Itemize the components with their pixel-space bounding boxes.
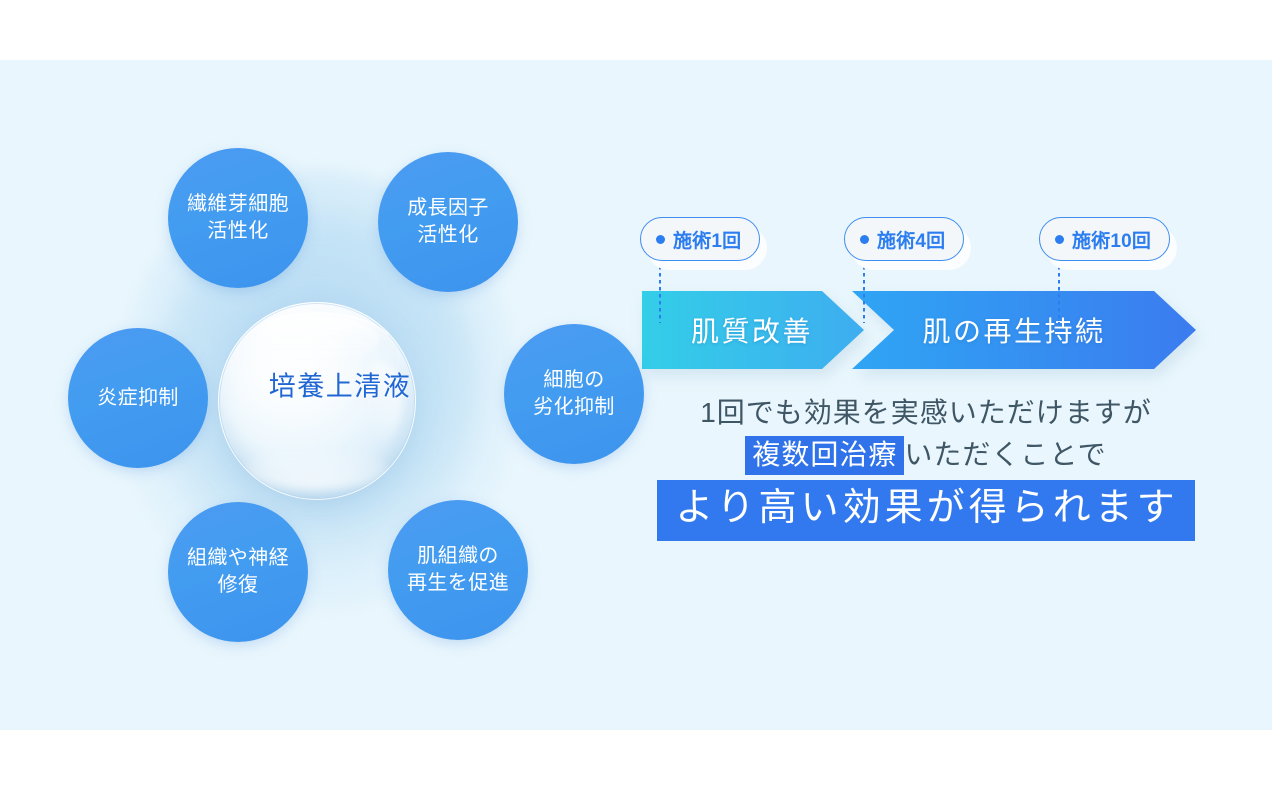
progress-arrow-band: 肌質改善 肌の再生持続 [642,291,1198,369]
message-line-3-emphasis: より高い効果が得られます [657,480,1194,541]
node-label-line1: 組織や神経 [181,545,295,572]
node-label-line2: 活性化 [401,222,495,249]
badge-treatment-1: 施術1回 [640,217,760,261]
badge-label: 施術10回 [1072,226,1151,253]
bullet-dot-icon [656,235,665,244]
bullet-dot-icon [1055,235,1064,244]
badge-label: 施術1回 [673,226,741,253]
node-inflammation-suppression: 炎症抑制 [68,328,208,468]
message-line-2-tail: いただくことで [904,439,1106,470]
node-label-line2: 再生を促進 [401,570,515,597]
node-label-line1: 成長因子 [401,195,495,222]
timeline-and-message: 施術1回 施術4回 施術10回 [636,205,1216,605]
node-fibroblast-activation: 繊維芽細胞 活性化 [168,148,308,288]
node-label-line2: 活性化 [181,218,295,245]
badge-treatment-10: 施術10回 [1039,217,1170,261]
node-label-line2: 劣化抑制 [527,394,621,421]
arrow-segment-regeneration [852,291,1196,369]
node-growth-factor-activation: 成長因子 活性化 [378,152,518,292]
message-line-2: 複数回治療いただくことで [636,437,1216,472]
bullet-dot-icon [860,235,869,244]
node-label-line1: 肌組織の [401,543,515,570]
node-label-line2: 修復 [181,572,295,599]
arrow-segment-skin-quality [642,291,864,369]
node-label-line1: 細胞の [527,367,621,394]
infographic-stage: 培養上清液 繊維芽細胞 活性化 成長因子 活性化 細胞の 劣化抑制 肌組織の 再… [0,0,1272,795]
node-cell-degradation-suppression: 細胞の 劣化抑制 [504,324,644,464]
node-tissue-nerve-repair: 組織や神経 修復 [168,502,308,642]
message-line-1: 1回でも効果を実感いただけますが [636,395,1216,430]
message-block: 1回でも効果を実感いただけますが 複数回治療いただくことで より高い効果が得られ… [636,395,1216,541]
bubble-diagram: 培養上清液 繊維芽細胞 活性化 成長因子 活性化 細胞の 劣化抑制 肌組織の 再… [40,120,640,650]
badge-label: 施術4回 [877,226,945,253]
badge-treatment-4: 施術4回 [844,217,964,261]
sphere-bottom-highlight [246,447,389,491]
node-label-line1: 炎症抑制 [91,385,185,412]
message-highlight-multi-treatment: 複数回治療 [745,436,904,475]
node-label-line1: 繊維芽細胞 [181,191,295,218]
node-skin-tissue-regeneration: 肌組織の 再生を促進 [388,500,528,640]
